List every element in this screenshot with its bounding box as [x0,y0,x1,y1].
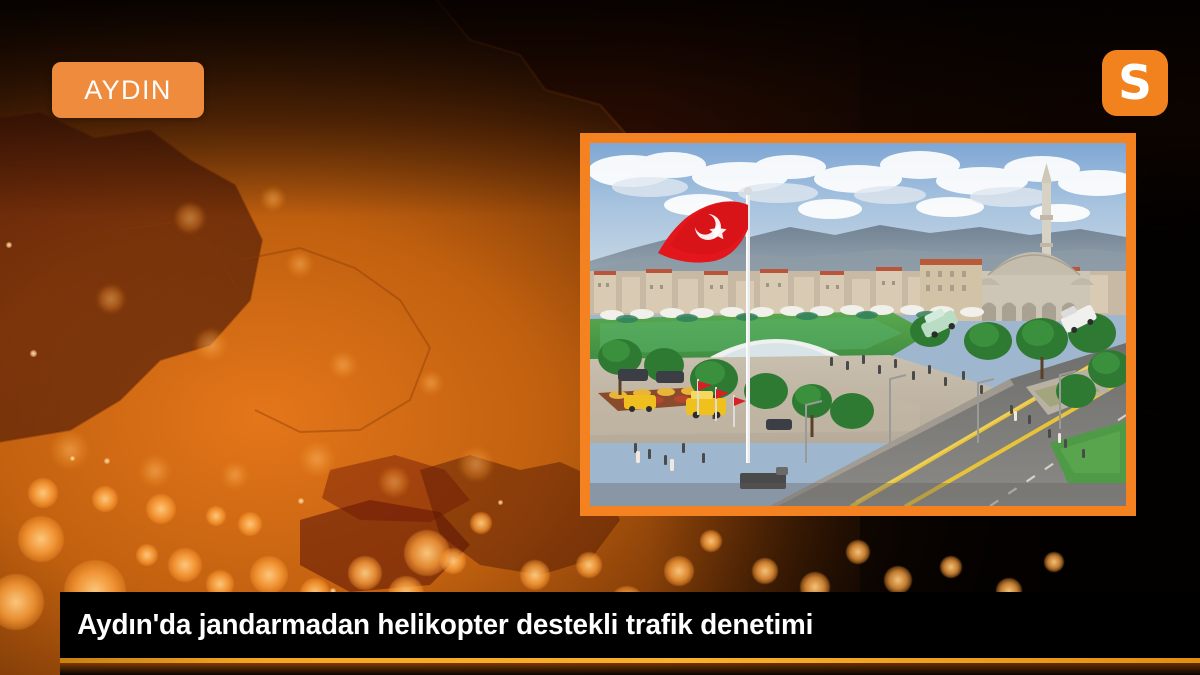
news-card: AYDIN S [0,0,1200,675]
city-badge: AYDIN [52,62,204,118]
headline-text: Aydın'da jandarmadan helikopter destekli… [60,609,813,642]
news-photo [590,143,1126,506]
news-photo-card[interactable] [580,133,1136,516]
brand-logo-letter: S [1118,60,1152,107]
city-badge-label: AYDIN [84,75,172,106]
headline-bottom-shadow [60,663,1200,675]
headline-bar: Aydın'da jandarmadan helikopter destekli… [60,592,1200,658]
brand-logo[interactable]: S [1102,50,1168,116]
